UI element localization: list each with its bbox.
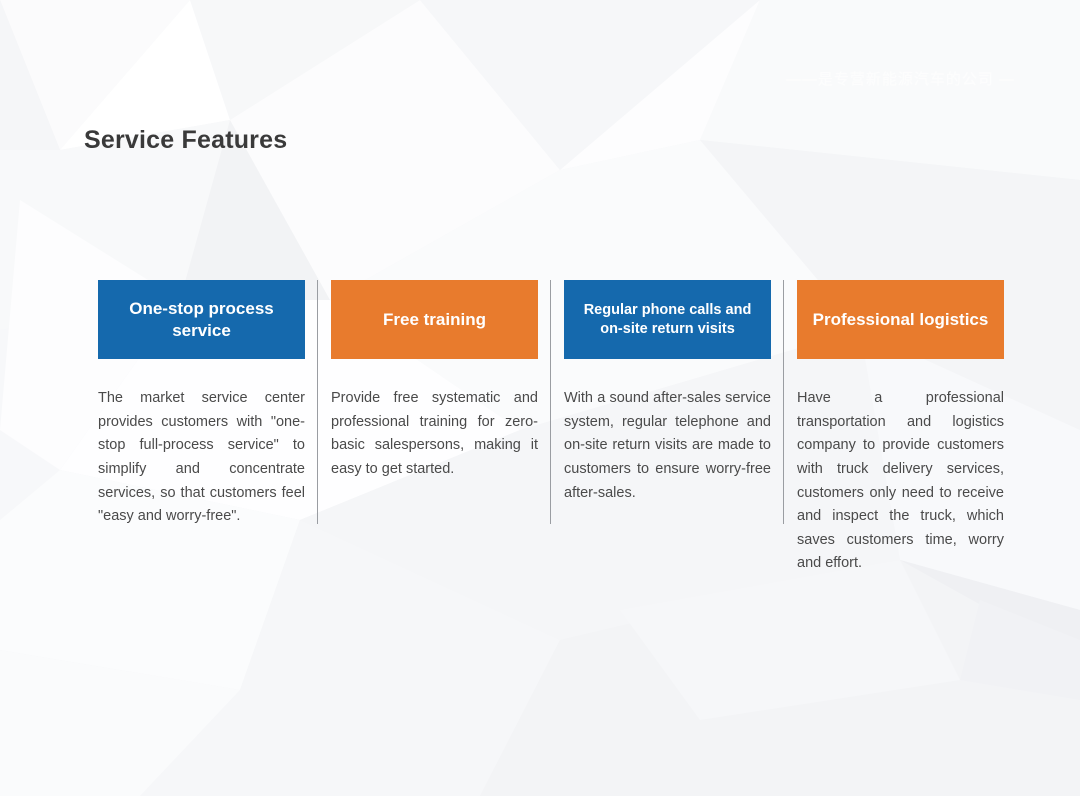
feature-heading-box-1[interactable]: One-stop process service xyxy=(98,280,305,359)
feature-body-3: With a sound after-sales service system,… xyxy=(564,387,771,505)
feature-columns: One-stop process service The market serv… xyxy=(98,280,1004,576)
feature-column-2: Free training Provide free systematic an… xyxy=(331,280,538,482)
feature-column-1: One-stop process service The market serv… xyxy=(98,280,305,529)
page-title: Service Features xyxy=(84,126,287,155)
feature-body-4: Have a professional transportation and l… xyxy=(797,387,1004,576)
feature-heading-box-4[interactable]: Professional logistics xyxy=(797,280,1004,359)
feature-heading-box-3[interactable]: Regular phone calls and on-site return v… xyxy=(564,280,771,359)
slide-canvas: ——是专营新能源汽车的公司 — Service Features One-sto… xyxy=(0,0,1080,796)
feature-column-3: Regular phone calls and on-site return v… xyxy=(564,280,771,505)
feature-heading-box-2[interactable]: Free training xyxy=(331,280,538,359)
feature-body-1: The market service center provides custo… xyxy=(98,387,305,529)
feature-body-2: Provide free systematic and professional… xyxy=(331,387,538,482)
feature-column-4: Professional logistics Have a profession… xyxy=(797,280,1004,576)
watermark-text: ——是专营新能源汽车的公司 — xyxy=(786,68,1015,89)
